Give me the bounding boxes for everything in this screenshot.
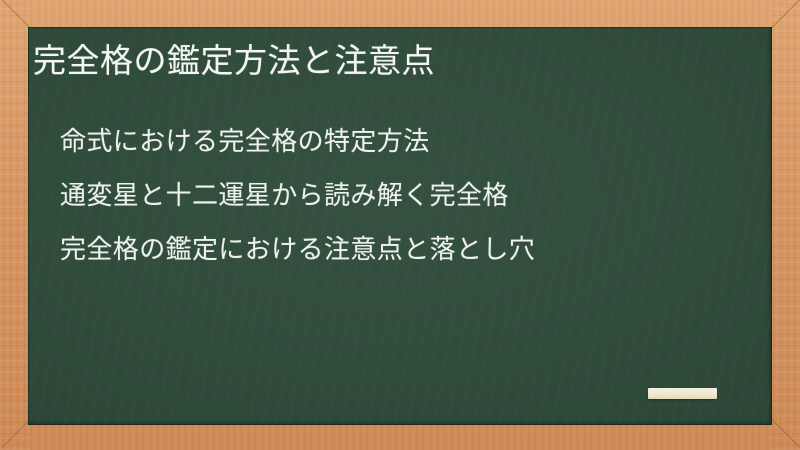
chalkboard-surface: 完全格の鑑定方法と注意点 命式における完全格の特定方法 通変星と十二運星から読み… (28, 27, 772, 425)
page-title: 完全格の鑑定方法と注意点 (33, 40, 435, 82)
chalk-stick-icon (648, 388, 717, 399)
chalkboard-frame: 完全格の鑑定方法と注意点 命式における完全格の特定方法 通変星と十二運星から読み… (0, 0, 800, 450)
wood-grain-right (770, 0, 800, 450)
list-item: 命式における完全格の特定方法 (60, 114, 535, 168)
list-item: 通変星と十二運星から読み解く完全格 (60, 168, 535, 222)
wood-grain-left (0, 0, 30, 450)
table-of-contents-list: 命式における完全格の特定方法 通変星と十二運星から読み解く完全格 完全格の鑑定に… (60, 114, 535, 276)
list-item: 完全格の鑑定における注意点と落とし穴 (60, 222, 535, 276)
